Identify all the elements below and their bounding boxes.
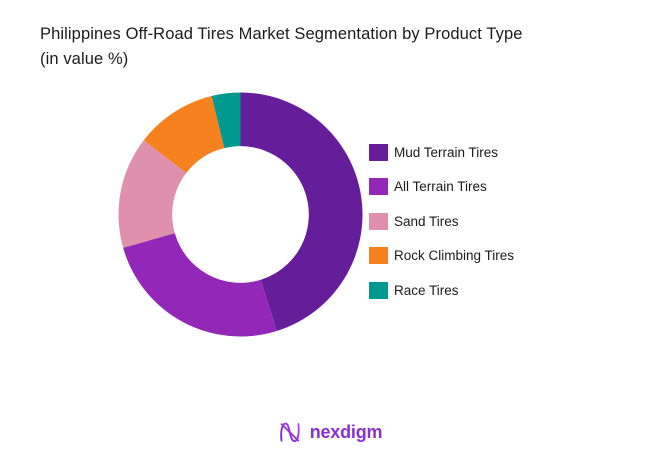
- donut-chart-svg: [114, 88, 367, 341]
- legend-item-label: Rock Climbing Tires: [394, 247, 514, 264]
- donut-chart: [114, 88, 367, 341]
- chart-legend: Mud Terrain TiresAll Terrain TiresSand T…: [369, 143, 619, 299]
- brand-logo-text: nexdigm: [310, 423, 383, 441]
- legend-swatch-icon: [369, 282, 388, 299]
- legend-item[interactable]: Mud Terrain Tires: [369, 143, 619, 161]
- legend-swatch-icon: [369, 178, 388, 195]
- legend-item-label: All Terrain Tires: [394, 178, 487, 195]
- legend-swatch-icon: [369, 213, 388, 230]
- legend-item[interactable]: Race Tires: [369, 281, 619, 299]
- legend-item[interactable]: Rock Climbing Tires: [369, 247, 619, 265]
- brand-logo: nexdigm: [0, 419, 659, 445]
- legend-item[interactable]: All Terrain Tires: [369, 178, 619, 196]
- legend-item-label: Race Tires: [394, 282, 459, 299]
- donut-slice[interactable]: [123, 233, 277, 336]
- chart-page: Philippines Off-Road Tires Market Segmen…: [0, 0, 659, 467]
- nexdigm-n-mark-icon: [277, 419, 303, 445]
- legend-item-label: Sand Tires: [394, 213, 459, 230]
- donut-slice-group: [119, 93, 363, 337]
- legend-item[interactable]: Sand Tires: [369, 212, 619, 230]
- legend-swatch-icon: [369, 247, 388, 264]
- legend-swatch-icon: [369, 144, 388, 161]
- legend-item-label: Mud Terrain Tires: [394, 144, 498, 161]
- page-title: Philippines Off-Road Tires Market Segmen…: [40, 22, 630, 72]
